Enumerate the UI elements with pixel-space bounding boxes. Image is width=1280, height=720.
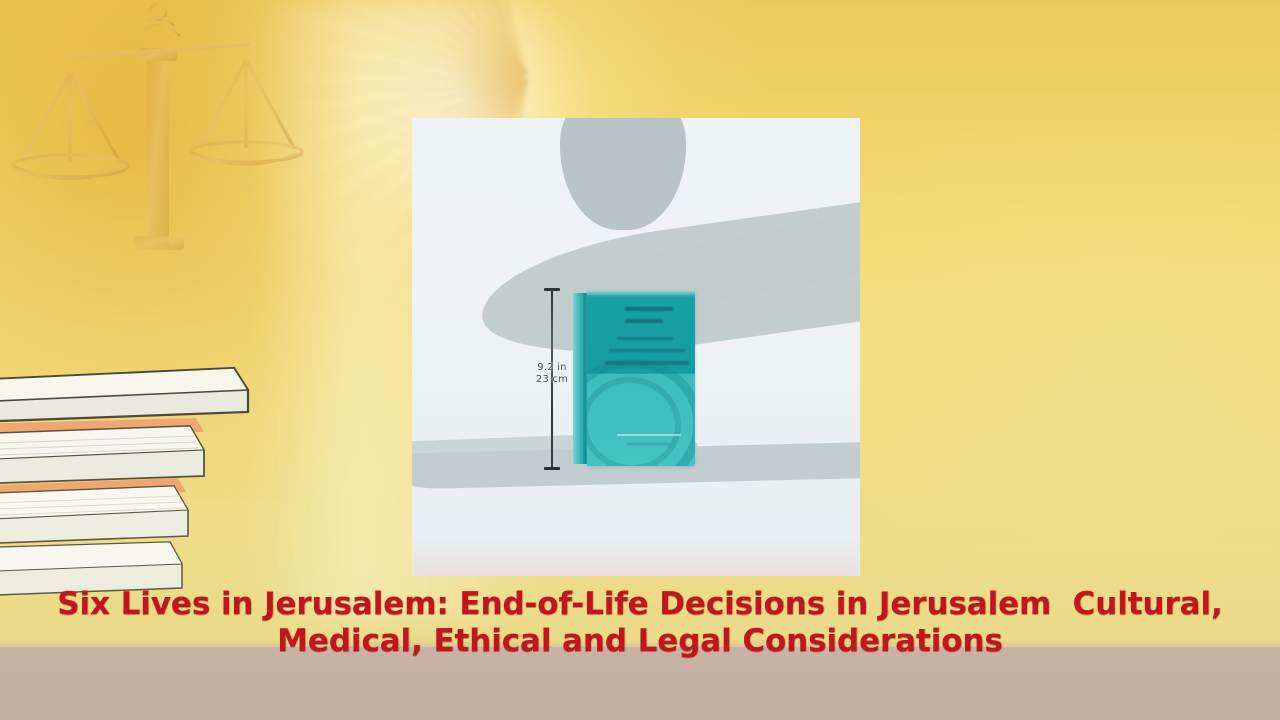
- dimension-line-icon: 9.2 in 23 cm: [543, 286, 561, 472]
- book-cover-sheen: [587, 291, 695, 297]
- book-cover-image: [573, 291, 695, 466]
- book-cover-text-line: [627, 443, 671, 445]
- scales-of-justice-icon: [8, 0, 338, 336]
- panel-bottom-smudge: [412, 536, 860, 576]
- book-stack-icon: [0, 352, 272, 602]
- screenshot-root: 9.2 in 23 cm Six Li: [0, 0, 1280, 720]
- book-cover-text-line: [605, 361, 689, 365]
- person-silhouette-head: [560, 118, 686, 230]
- book-cover-text-line: [625, 319, 663, 323]
- book-cover-rule: [617, 434, 681, 436]
- book-cover-text-line: [609, 349, 685, 352]
- dimension-cap-bottom: [544, 467, 560, 470]
- book-front-cover: [587, 291, 695, 466]
- page-title: Six Lives in Jerusalem: End-of-Life Deci…: [40, 586, 1240, 660]
- book-cover-text-line: [617, 337, 673, 340]
- book-cover-text-line: [625, 307, 673, 311]
- product-image-panel: 9.2 in 23 cm: [412, 118, 860, 576]
